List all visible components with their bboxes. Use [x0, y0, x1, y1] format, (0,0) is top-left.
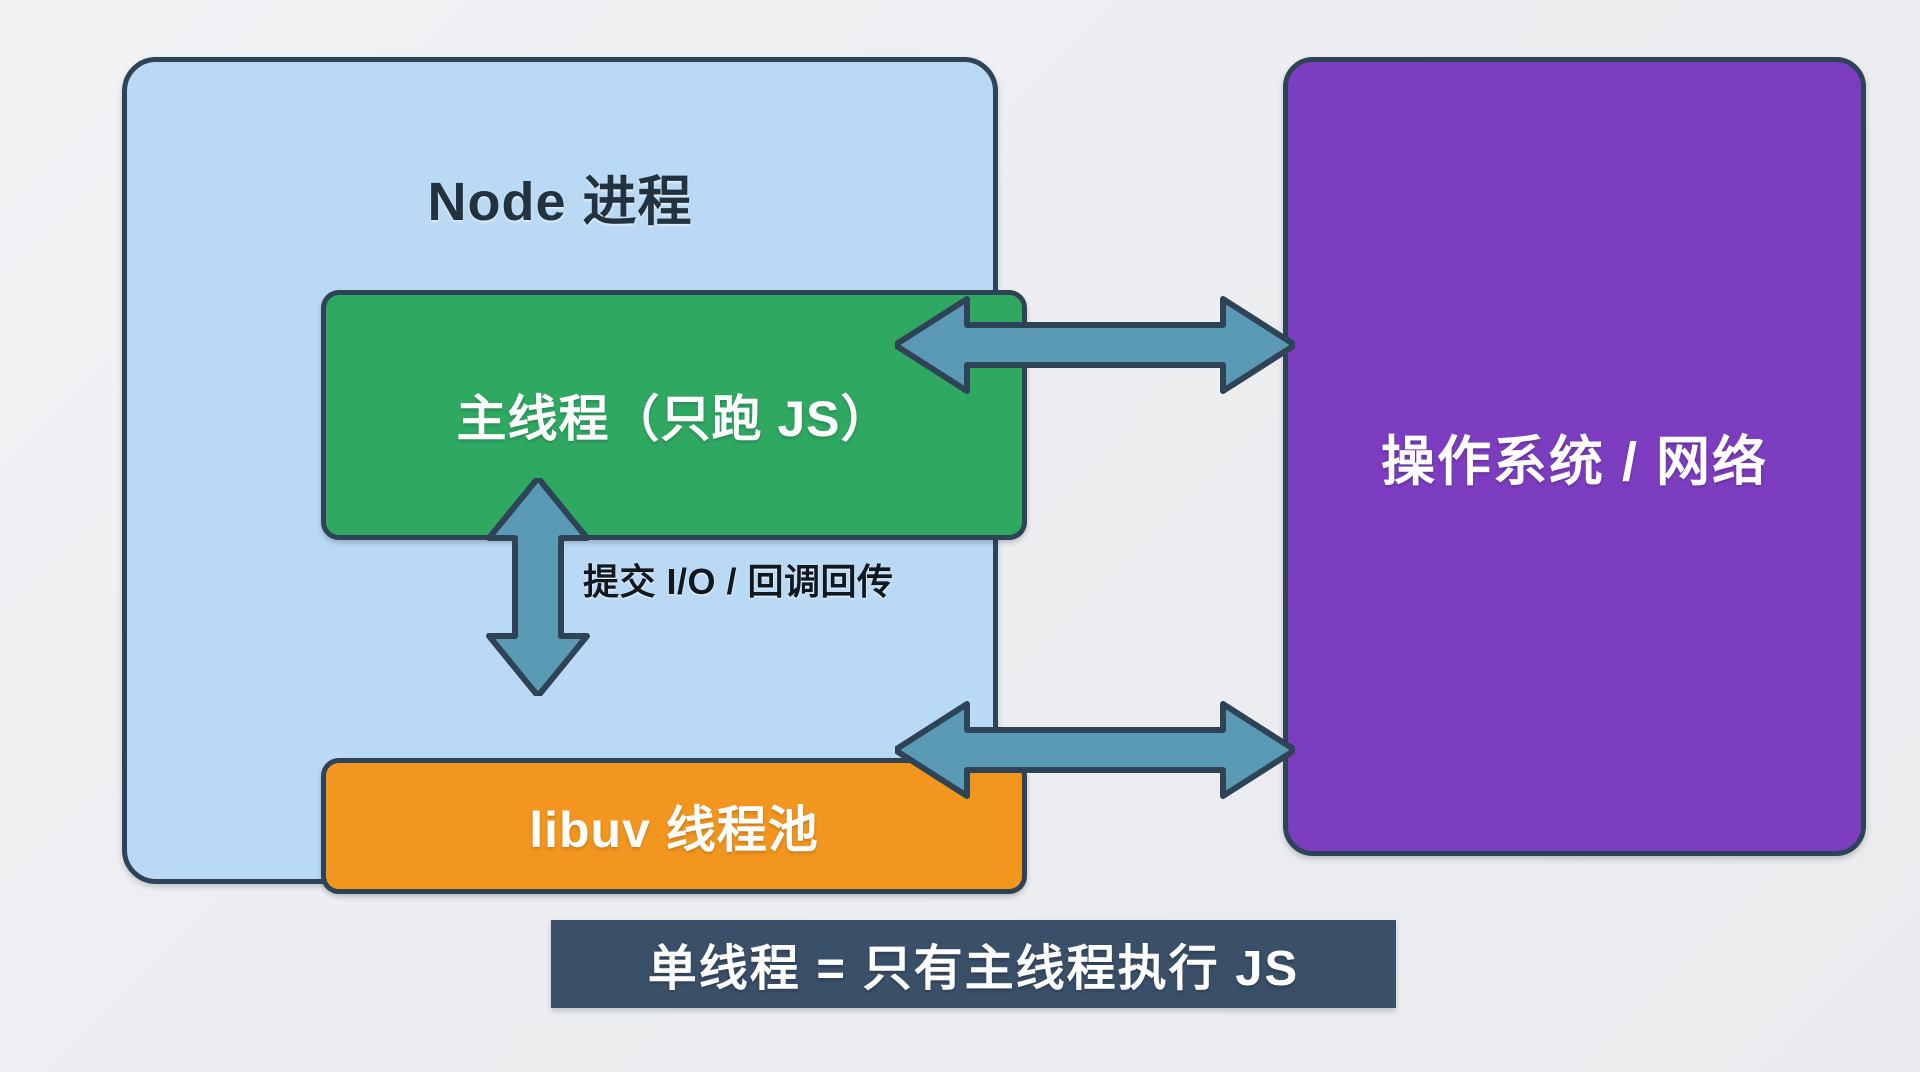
main-thread-to-os-arrow — [895, 285, 1295, 410]
io-submission-label: 提交 I/O / 回调回传 — [583, 553, 894, 605]
main-thread-label: 主线程（只跑 JS） — [456, 379, 891, 451]
main-thread-to-libuv-arrow — [483, 478, 593, 701]
libuv-threadpool-label: libuv 线程池 — [529, 790, 819, 862]
libuv-to-os-arrow — [895, 690, 1295, 815]
summary-banner-label: 单线程 = 只有主线程执行 JS — [648, 929, 1299, 1000]
operating-system-network-label: 操作系统 / 网络 — [1381, 417, 1768, 496]
double-arrow-vertical-icon — [483, 478, 593, 696]
summary-banner: 单线程 = 只有主线程执行 JS — [551, 920, 1396, 1008]
node-process-title: Node 进程 — [127, 157, 993, 236]
double-arrow-horizontal-icon — [895, 285, 1295, 405]
double-arrow-horizontal-icon — [895, 690, 1295, 810]
diagram-canvas: Node 进程 主线程（只跑 JS） libuv 线程池 操作系统 / 网络 提… — [0, 0, 1920, 1072]
node-process-container: Node 进程 主线程（只跑 JS） libuv 线程池 — [122, 57, 998, 884]
operating-system-network-box: 操作系统 / 网络 — [1283, 57, 1866, 856]
